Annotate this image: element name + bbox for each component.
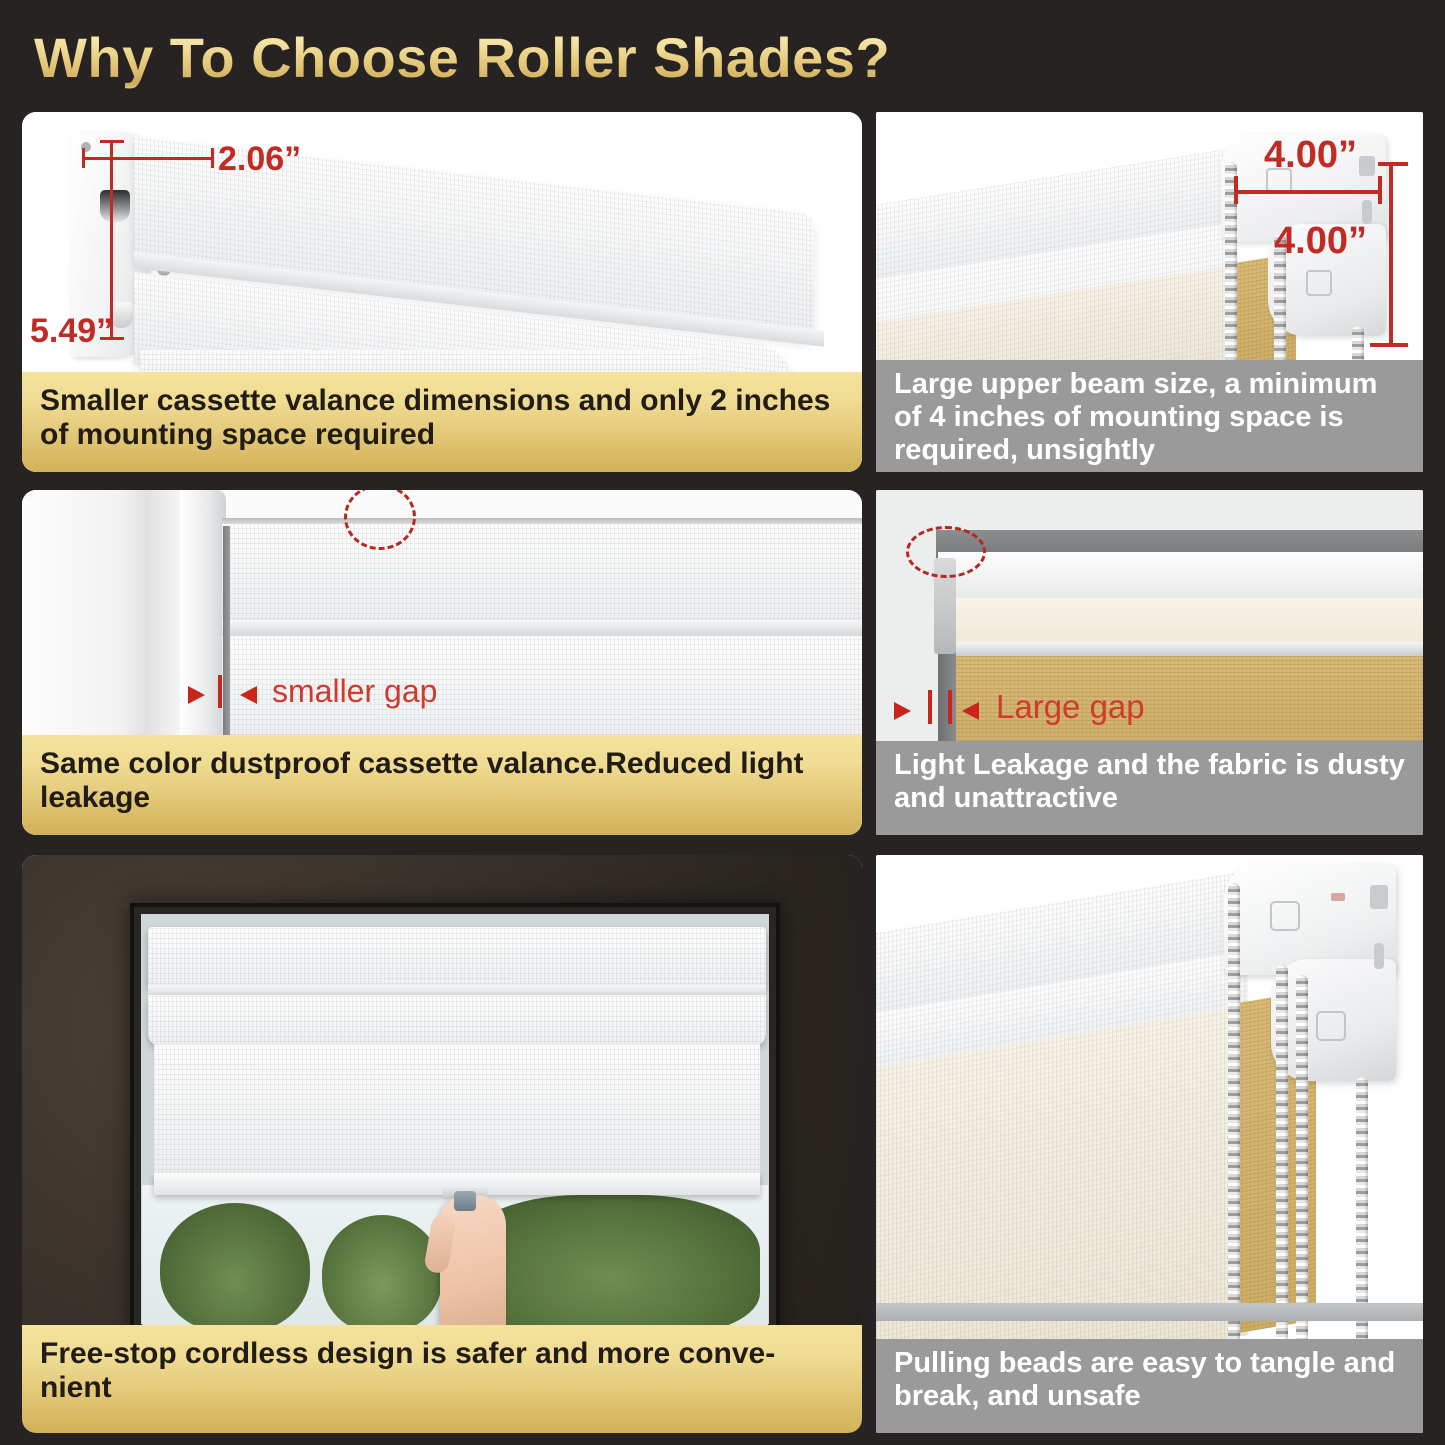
caption-pull-beads: Pulling beads are easy to tangle and bre…: [876, 1339, 1423, 1433]
shade-fabric: [154, 1045, 760, 1180]
shade-valance: [148, 927, 766, 989]
panel-cordless-lifestyle: Free-stop cordless design is safer and m…: [22, 855, 862, 1433]
caption-cassette-dimensions: Smaller cassette valance dimensions and …: [22, 372, 862, 472]
panel-large-upper-beam: 4.00” 4.00” Large upper beam size, a min…: [876, 112, 1423, 472]
beam-dim-width-label: 4.00”: [1264, 134, 1357, 177]
panel-large-gap: Large gap Light Leakage and the fabric i…: [876, 490, 1423, 835]
window-frame-outer: [22, 490, 182, 750]
gap-strip: [223, 526, 230, 750]
outdoor-tree-mid: [322, 1215, 442, 1333]
page-title: Why To Choose Roller Shades?: [34, 22, 1414, 94]
cassette-end-cap-slot: [100, 190, 130, 222]
beam-dim-height-tick-top: [1378, 162, 1408, 166]
gap-arrow-right: [240, 686, 257, 704]
dim-height-line: [110, 140, 113, 340]
panel-cassette-dimensions: 5.49” 2.06” Smaller cassette valance dim…: [22, 112, 862, 472]
caption-large-upper-beam: Large upper beam size, a minimum of 4 in…: [876, 360, 1423, 472]
dim-width-line: [82, 157, 214, 160]
outdoor-tree-left: [160, 1203, 310, 1333]
infographic-page: Why To Choose Roller Shades? 5.49”: [0, 0, 1445, 1445]
floor-strip: [876, 1303, 1423, 1321]
window-frame-casing: [180, 490, 226, 750]
beam-dim-height-line: [1389, 162, 1393, 347]
gap-label-large: Large gap: [996, 688, 1145, 726]
bead-chain-long-3: [1296, 975, 1308, 1383]
gap-label-smaller: smaller gap: [272, 673, 437, 710]
beam-dim-height-tick-bottom: [1370, 343, 1408, 347]
dim-height-label: 5.49”: [30, 312, 113, 351]
beam-dim-width-line: [1234, 190, 1382, 194]
caption-large-gap: Light Leakage and the fabric is dusty an…: [876, 741, 1423, 835]
large-gap-marker-bar-a: [928, 690, 932, 724]
bead-bracket-notch-a: [1370, 885, 1388, 909]
large-gap-arrow-left: [894, 702, 911, 720]
large-gap-marker-bar-b: [948, 690, 952, 724]
bead-bracket-icon-b: [1316, 1011, 1346, 1041]
beam-dim-height-label: 4.00”: [1274, 220, 1367, 263]
large-gap-arrow-right: [962, 702, 979, 720]
gap-marker-bar: [218, 675, 222, 708]
panel-pull-beads: Pulling beads are easy to tangle and bre…: [876, 855, 1423, 1433]
beam-dim-width-tick-right: [1378, 176, 1382, 204]
valance-bottom-rail: [222, 620, 862, 636]
beam-bracket-notch-a: [1359, 156, 1375, 176]
shade-roll: [148, 995, 766, 1047]
panel-smaller-gap: smaller gap Same color dustproof cassett…: [22, 490, 862, 835]
dim-width-tick-right: [211, 148, 214, 168]
bead-bracket-icon-a: [1270, 901, 1300, 931]
dirty-valance: [938, 552, 1423, 602]
valance-fabric-upper: [222, 524, 862, 624]
gap-arrow-left: [188, 686, 205, 704]
caption-cordless-lifestyle: Free-stop cordless design is safer and m…: [22, 1325, 862, 1433]
highlight-circle-right: [906, 526, 986, 578]
valance-cream-band: [944, 598, 1423, 644]
beam-dim-width-tick-left: [1234, 176, 1238, 204]
beam-bracket-icon-b: [1306, 270, 1332, 296]
bead-bracket-marker: [1331, 893, 1345, 901]
dim-width-label: 2.06”: [218, 140, 301, 179]
valance-bottom-rail-right: [944, 642, 1423, 656]
hand-grip-clip: [454, 1191, 476, 1211]
caption-smaller-gap: Same color dustproof cassette valance.Re…: [22, 735, 862, 835]
bead-bracket-notch-b: [1374, 943, 1384, 969]
dim-width-tick-left: [82, 148, 85, 168]
dim-height-tick-top: [100, 140, 124, 143]
bead-chain-long-4: [1356, 1077, 1368, 1383]
